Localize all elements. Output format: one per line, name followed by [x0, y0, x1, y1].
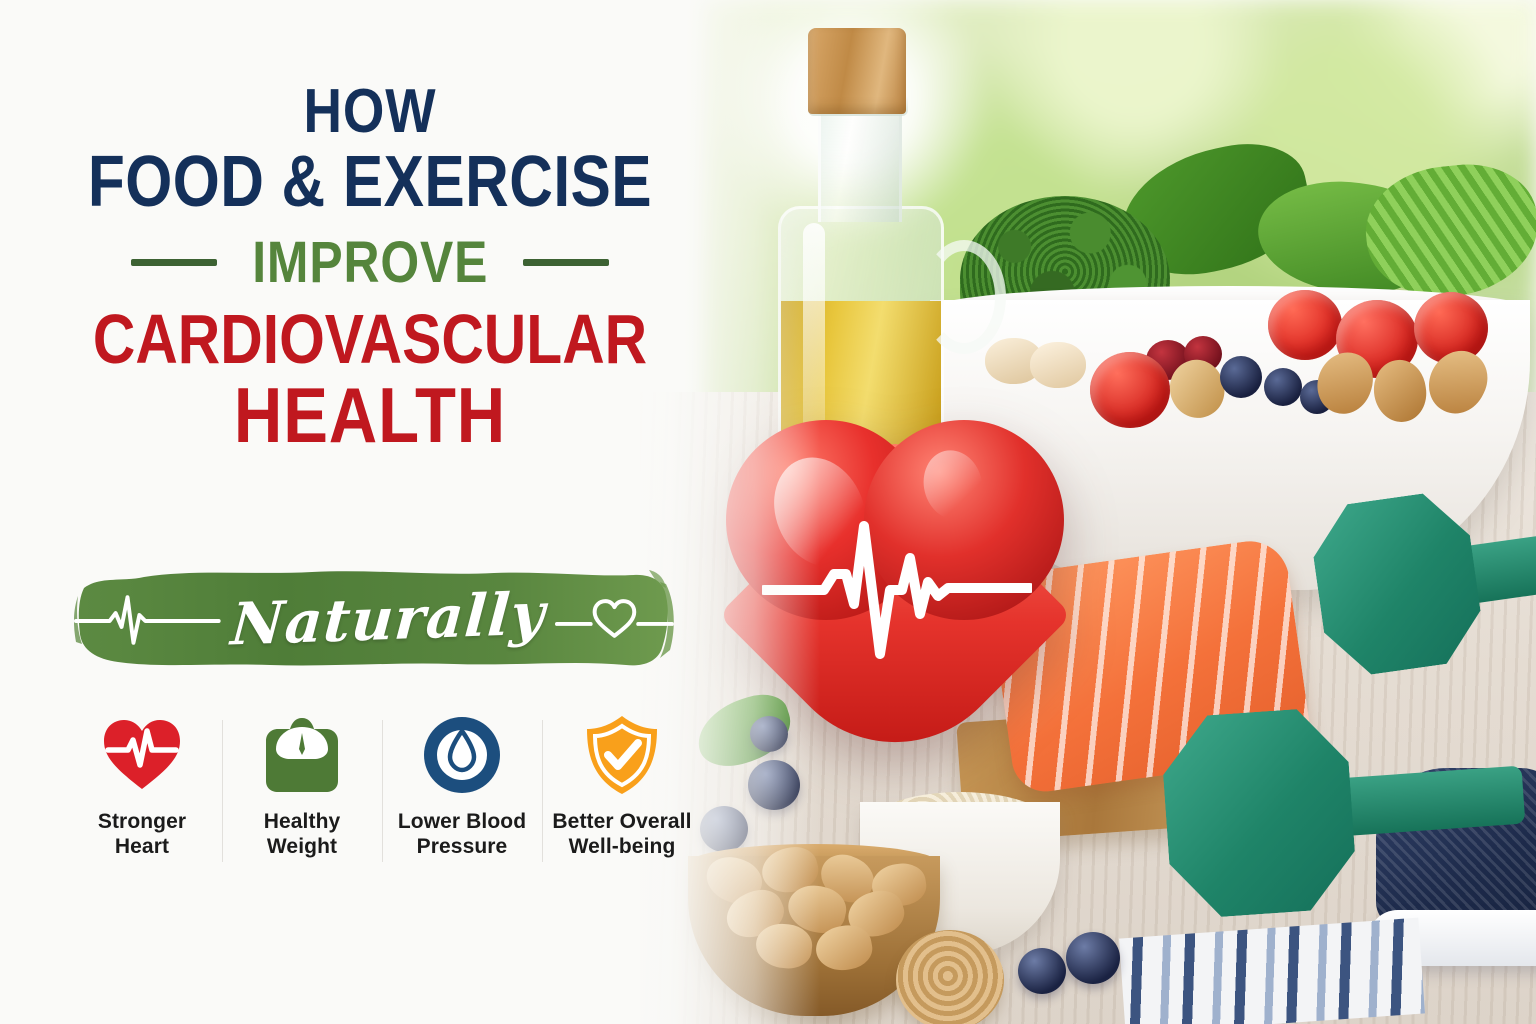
dash-left-icon [131, 259, 217, 266]
benefit-label-line1: Better Overall [552, 810, 691, 835]
naturally-banner: Naturally [74, 566, 674, 672]
title-line-cardiovascular: CARDIOVASCULAR [59, 304, 681, 374]
benefit-label: Lower Blood Pressure [398, 810, 526, 860]
cherry-tomato-icon [1268, 290, 1342, 360]
text-column: HOW FOOD & EXERCISE IMPROVE CARDIOVASCUL… [0, 0, 740, 1024]
title-line-improve: IMPROVE [252, 229, 488, 296]
ecg-line-icon [74, 589, 221, 649]
cherry-tomato-icon [1090, 352, 1170, 428]
benefit-label-line2: Well-being [552, 835, 691, 860]
dumbbell-icon [1307, 488, 1487, 680]
title-line-food: FOOD & EXERCISE [59, 146, 681, 219]
blueberry-icon [1018, 948, 1066, 994]
poster-canvas: HOW FOOD & EXERCISE IMPROVE CARDIOVASCUL… [0, 0, 1536, 1024]
benefit-healthy-weight[interactable]: Healthy Weight [222, 714, 382, 860]
benefit-label-line1: Stronger [98, 810, 186, 835]
heart-pulse-icon [100, 714, 184, 796]
banner-script-word: Naturally [222, 579, 553, 659]
benefit-label-line1: Healthy [264, 810, 341, 835]
dumbbell-icon [1159, 706, 1359, 920]
shield-check-icon [583, 714, 661, 796]
benefit-label-line2: Heart [98, 835, 186, 860]
bottle-handle [922, 240, 1006, 354]
title-improve-row: IMPROVE [0, 229, 740, 296]
benefit-label-line2: Pressure [398, 835, 526, 860]
title-line-health: HEALTH [52, 376, 688, 454]
benefits-row: Stronger Heart Healthy Weight [62, 714, 702, 874]
page-title: HOW FOOD & EXERCISE IMPROVE CARDIOVASCUL… [0, 82, 740, 454]
benefit-lower-blood-pressure[interactable]: Lower Blood Pressure [382, 714, 542, 860]
blueberry-icon [1264, 368, 1302, 406]
blueberry-icon [1066, 932, 1120, 984]
blueberry-icon [1220, 356, 1262, 398]
water-drop-icon [422, 714, 502, 796]
benefit-label: Better Overall Well-being [552, 810, 691, 860]
dumbbell-head [1159, 706, 1359, 920]
title-line-how: HOW [52, 82, 688, 142]
benefit-label: Stronger Heart [98, 810, 186, 860]
benefit-label: Healthy Weight [264, 810, 341, 860]
benefit-stronger-heart[interactable]: Stronger Heart [62, 714, 222, 860]
benefit-better-overall-wellbeing[interactable]: Better Overall Well-being [542, 714, 702, 860]
benefit-label-line2: Weight [264, 835, 341, 860]
cork-stopper-icon [808, 28, 906, 114]
benefit-label-line1: Lower Blood [398, 810, 526, 835]
banner-content: Naturally [74, 566, 674, 672]
weight-scale-icon [264, 714, 340, 796]
dash-right-icon [523, 259, 609, 266]
cashew-icon [1030, 342, 1086, 388]
walnut-icon [896, 930, 1004, 1024]
heart-outline-icon [555, 596, 674, 642]
dumbbell-head [1307, 488, 1487, 680]
bottle-neck [818, 102, 902, 222]
